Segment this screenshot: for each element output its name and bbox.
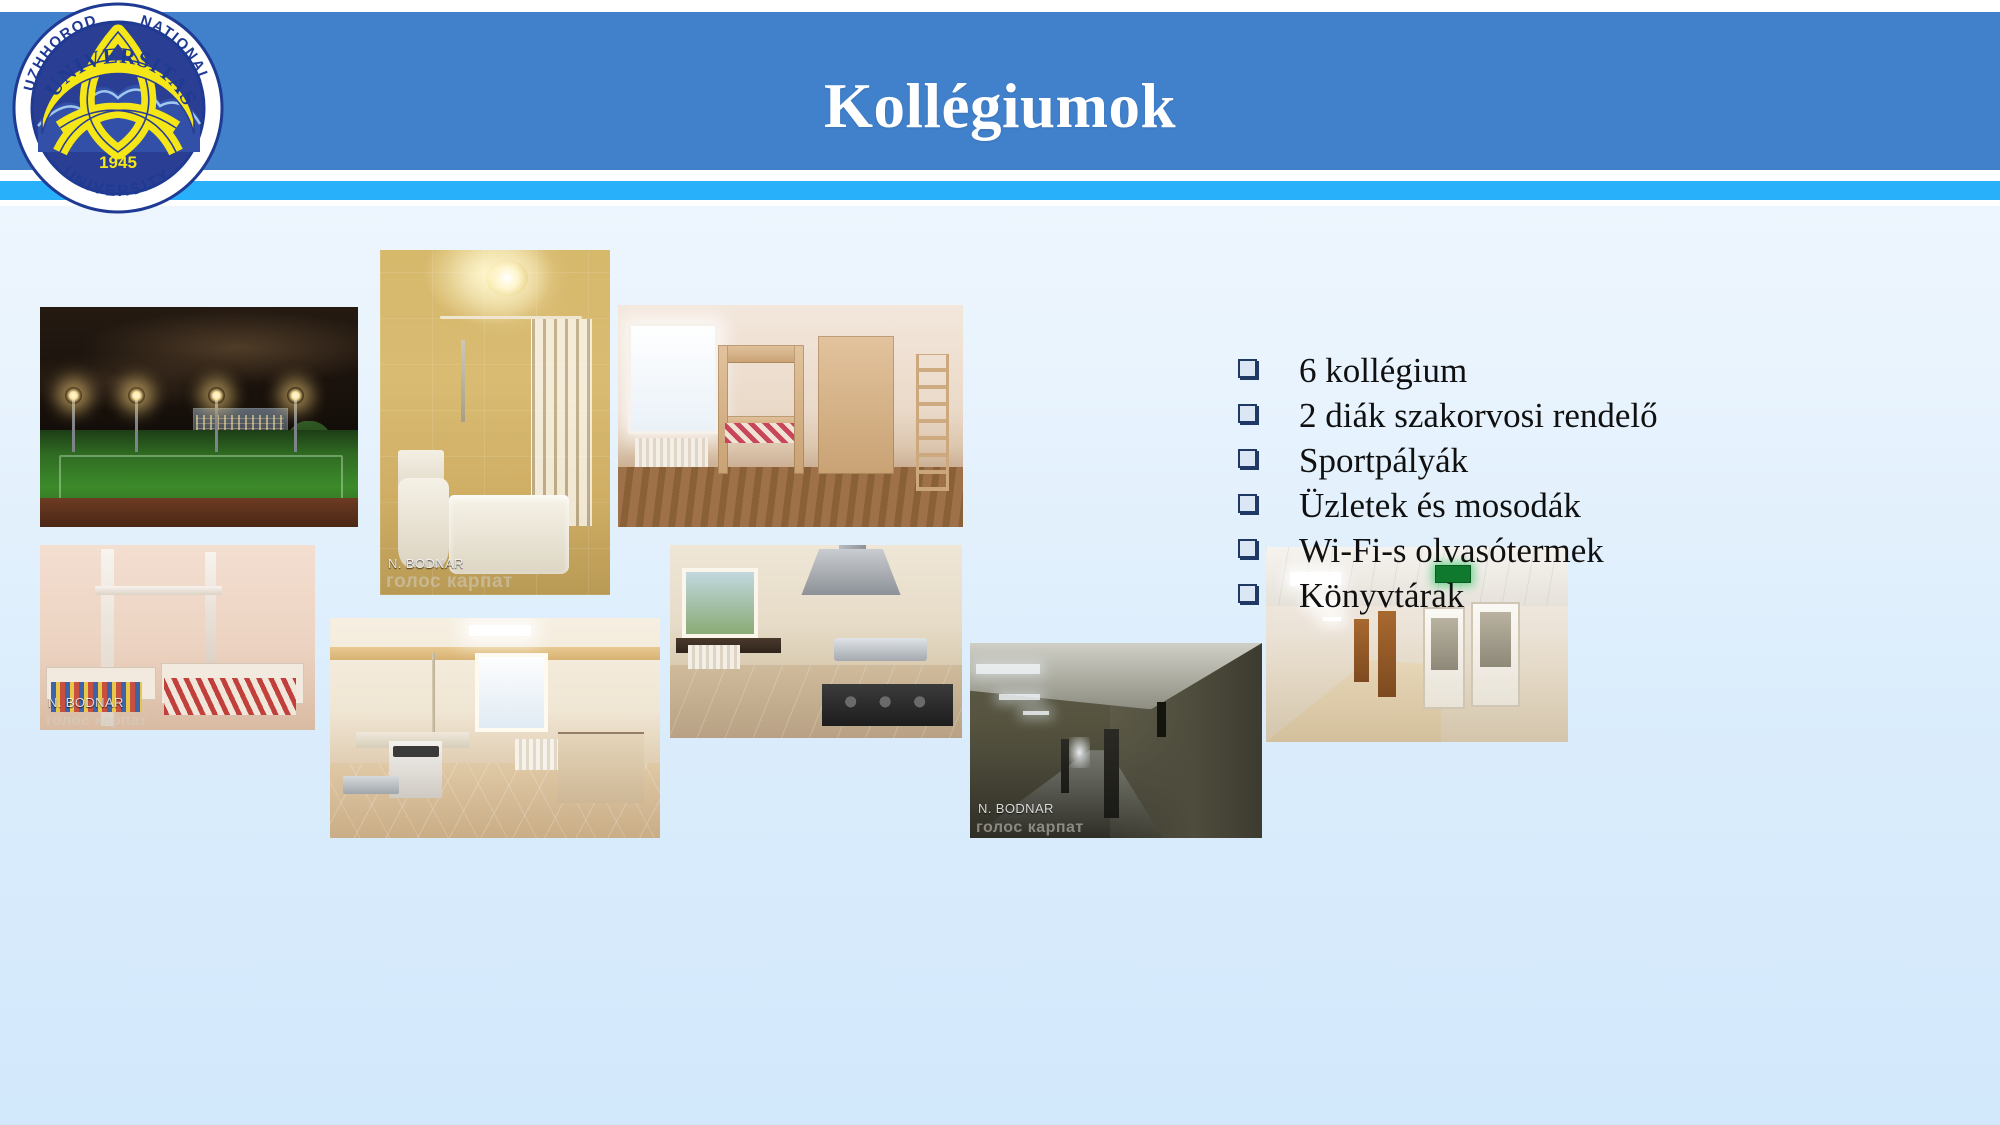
floodlight bbox=[135, 395, 138, 452]
square-bullet-icon bbox=[1238, 404, 1257, 423]
running-track bbox=[40, 498, 358, 527]
list-item-label: Üzletek és mosodák bbox=[1299, 483, 1581, 528]
list-item: Üzletek és mosodák bbox=[1238, 483, 1938, 528]
red-blanket bbox=[164, 678, 296, 715]
kitchen-with-gas-stove-photo bbox=[670, 545, 962, 738]
list-item: Wi-Fi-s olvasótermek bbox=[1238, 528, 1938, 573]
photo-watermark-secondary: голос карпат bbox=[976, 819, 1084, 837]
list-item-label: Könyvtárak bbox=[1299, 573, 1464, 618]
bunk-rail bbox=[95, 586, 222, 595]
dormitory-room-bunk-beds-photo bbox=[618, 305, 963, 527]
bunk-post bbox=[205, 552, 216, 663]
night-sports-field-photo bbox=[40, 307, 358, 527]
photo-watermark-secondary: голос карпат bbox=[386, 571, 513, 593]
list-item: 2 diák szakorvosi rendelő bbox=[1238, 393, 1938, 438]
toilet bbox=[398, 478, 449, 568]
photo-watermark: N. BODNAR bbox=[388, 556, 464, 571]
window bbox=[475, 653, 548, 732]
list-item-label: 2 diák szakorvosi rendelő bbox=[1299, 393, 1658, 438]
door bbox=[1104, 729, 1119, 819]
door-glass bbox=[1480, 612, 1511, 667]
list-item: Könyvtárak bbox=[1238, 573, 1938, 618]
wardrobe bbox=[818, 336, 894, 474]
photo-watermark: N. BODNAR bbox=[978, 801, 1054, 816]
sink bbox=[834, 638, 927, 661]
uzhhorod-university-emblem-icon: UZHHOROD NATIONAL UNIVERSITAS UNIVERSITY… bbox=[12, 2, 224, 214]
door-glass bbox=[1431, 618, 1458, 671]
ceiling-light bbox=[999, 694, 1040, 700]
wood-floor bbox=[618, 467, 963, 527]
square-bullet-icon bbox=[1238, 359, 1257, 378]
top-white-strip bbox=[0, 0, 2000, 12]
list-item: Sportpályák bbox=[1238, 438, 1938, 483]
list-item-label: Sportpályák bbox=[1299, 438, 1468, 483]
door bbox=[1061, 739, 1070, 794]
ceiling-light bbox=[976, 664, 1040, 674]
floodlight bbox=[215, 395, 218, 452]
floodlight bbox=[72, 395, 75, 452]
radiator bbox=[515, 739, 561, 770]
bedding bbox=[725, 423, 794, 443]
bunk-ladder bbox=[916, 354, 950, 492]
presentation-slide: Kollégiumok UZH bbox=[0, 0, 2000, 1125]
wooden-door bbox=[1354, 619, 1369, 681]
glass-door bbox=[1423, 607, 1465, 708]
wall-panel bbox=[1157, 702, 1166, 737]
shelving-unit bbox=[558, 732, 644, 802]
list-item-label: 6 kollégium bbox=[1299, 348, 1467, 393]
dormitory-bathroom-photo: N. BODNAR голос карпат bbox=[380, 250, 610, 595]
photo-watermark-secondary: голос карпат bbox=[46, 712, 147, 729]
square-bullet-icon bbox=[1238, 449, 1257, 468]
feature-list: 6 kollégium 2 diák szakorvosi rendelő Sp… bbox=[1238, 348, 1938, 618]
list-item-label: Wi-Fi-s olvasótermek bbox=[1299, 528, 1604, 573]
wooden-door bbox=[1378, 611, 1396, 697]
radiator bbox=[688, 645, 741, 668]
dark-corridor-photo: N. BODNAR голос карпат bbox=[970, 643, 1262, 838]
dormitory-bunk-bed-beds-photo: N. BODNAR голос карпат bbox=[40, 545, 315, 730]
window bbox=[628, 323, 718, 434]
bunk-bed-upper bbox=[718, 345, 804, 363]
ceiling-light bbox=[469, 625, 532, 636]
square-bullet-icon bbox=[1238, 539, 1257, 558]
window bbox=[682, 568, 758, 637]
gas-stove bbox=[822, 684, 953, 726]
list-item: 6 kollégium bbox=[1238, 348, 1938, 393]
shared-kitchen-photo bbox=[330, 618, 660, 838]
bathtub bbox=[449, 495, 569, 574]
university-logo: UZHHOROD NATIONAL UNIVERSITAS UNIVERSITY… bbox=[12, 2, 224, 214]
ceiling-light bbox=[1023, 711, 1049, 715]
radiator bbox=[635, 438, 707, 469]
header-white-gap bbox=[0, 170, 2000, 181]
square-bullet-icon bbox=[1238, 584, 1257, 603]
accent-strip bbox=[0, 181, 2000, 200]
sink bbox=[343, 776, 399, 794]
page-title: Kollégiumok bbox=[300, 70, 1700, 143]
svg-text:1945: 1945 bbox=[99, 153, 137, 172]
square-bullet-icon bbox=[1238, 494, 1257, 513]
photo-watermark: N. BODNAR bbox=[48, 695, 124, 710]
under-accent-white bbox=[0, 200, 2000, 206]
ceiling-light bbox=[486, 260, 528, 296]
bunk-post bbox=[794, 345, 804, 474]
bunk-post bbox=[718, 345, 728, 474]
shower-fixture bbox=[461, 340, 465, 423]
floodlight bbox=[294, 395, 297, 452]
